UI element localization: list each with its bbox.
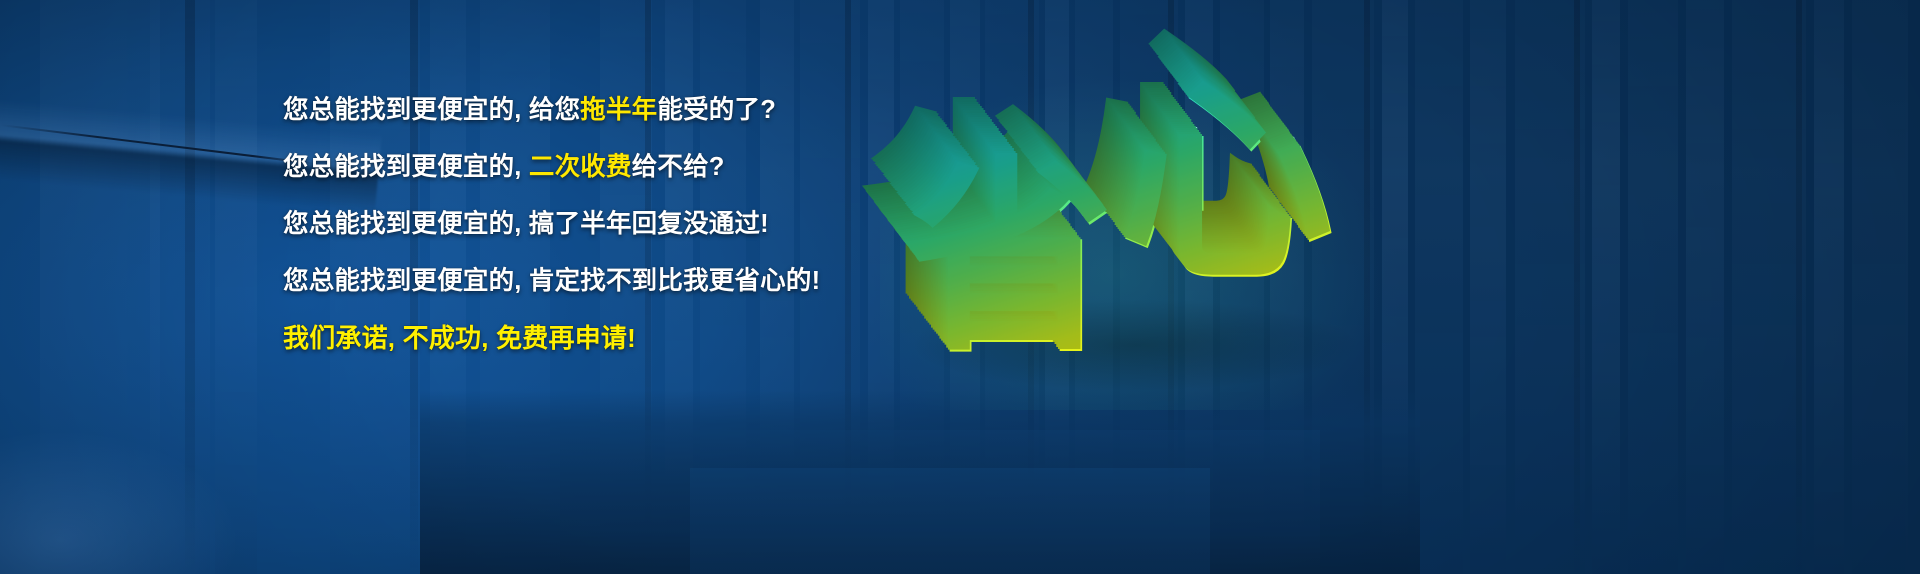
plain-text: 能受的了?: [657, 96, 776, 124]
logo-char-sheng-extrusion: 省: [903, 153, 1113, 363]
plain-text: 您总能找到更便宜的, 肯定找不到比我更省心的!: [283, 267, 820, 295]
line-1: 您总能找到更便宜的, 给您拖半年能受的了?: [283, 82, 923, 139]
plain-text: 您总能找到更便宜的,: [283, 153, 529, 181]
emphasis-text: 我们承诺, 不成功, 免费再申请!: [283, 323, 636, 353]
left-glow: [0, 430, 240, 574]
line-2: 您总能找到更便宜的, 二次收费给不给?: [283, 139, 923, 196]
plain-text: 您总能找到更便宜的, 给您: [283, 96, 580, 124]
emphasis-text: 二次收费: [529, 153, 632, 181]
plain-text: 您总能找到更便宜的, 搞了半年回复没通过!: [283, 210, 769, 238]
line-5-promise: 我们承诺, 不成功, 免费再申请!: [283, 310, 923, 367]
line-4: 您总能找到更便宜的, 肯定找不到比我更省心的!: [283, 253, 923, 310]
emphasis-text: 拖半年: [580, 96, 657, 124]
plain-text: 给不给?: [632, 153, 725, 181]
logo-char-xin-extrusion: 心: [1119, 76, 1334, 291]
headline-copy-block: 您总能找到更便宜的, 给您拖半年能受的了?您总能找到更便宜的, 二次收费给不给?…: [283, 82, 923, 367]
promo-banner: 您总能找到更便宜的, 给您拖半年能受的了?您总能找到更便宜的, 二次收费给不给?…: [0, 0, 1920, 574]
line-3: 您总能找到更便宜的, 搞了半年回复没通过!: [283, 196, 923, 253]
